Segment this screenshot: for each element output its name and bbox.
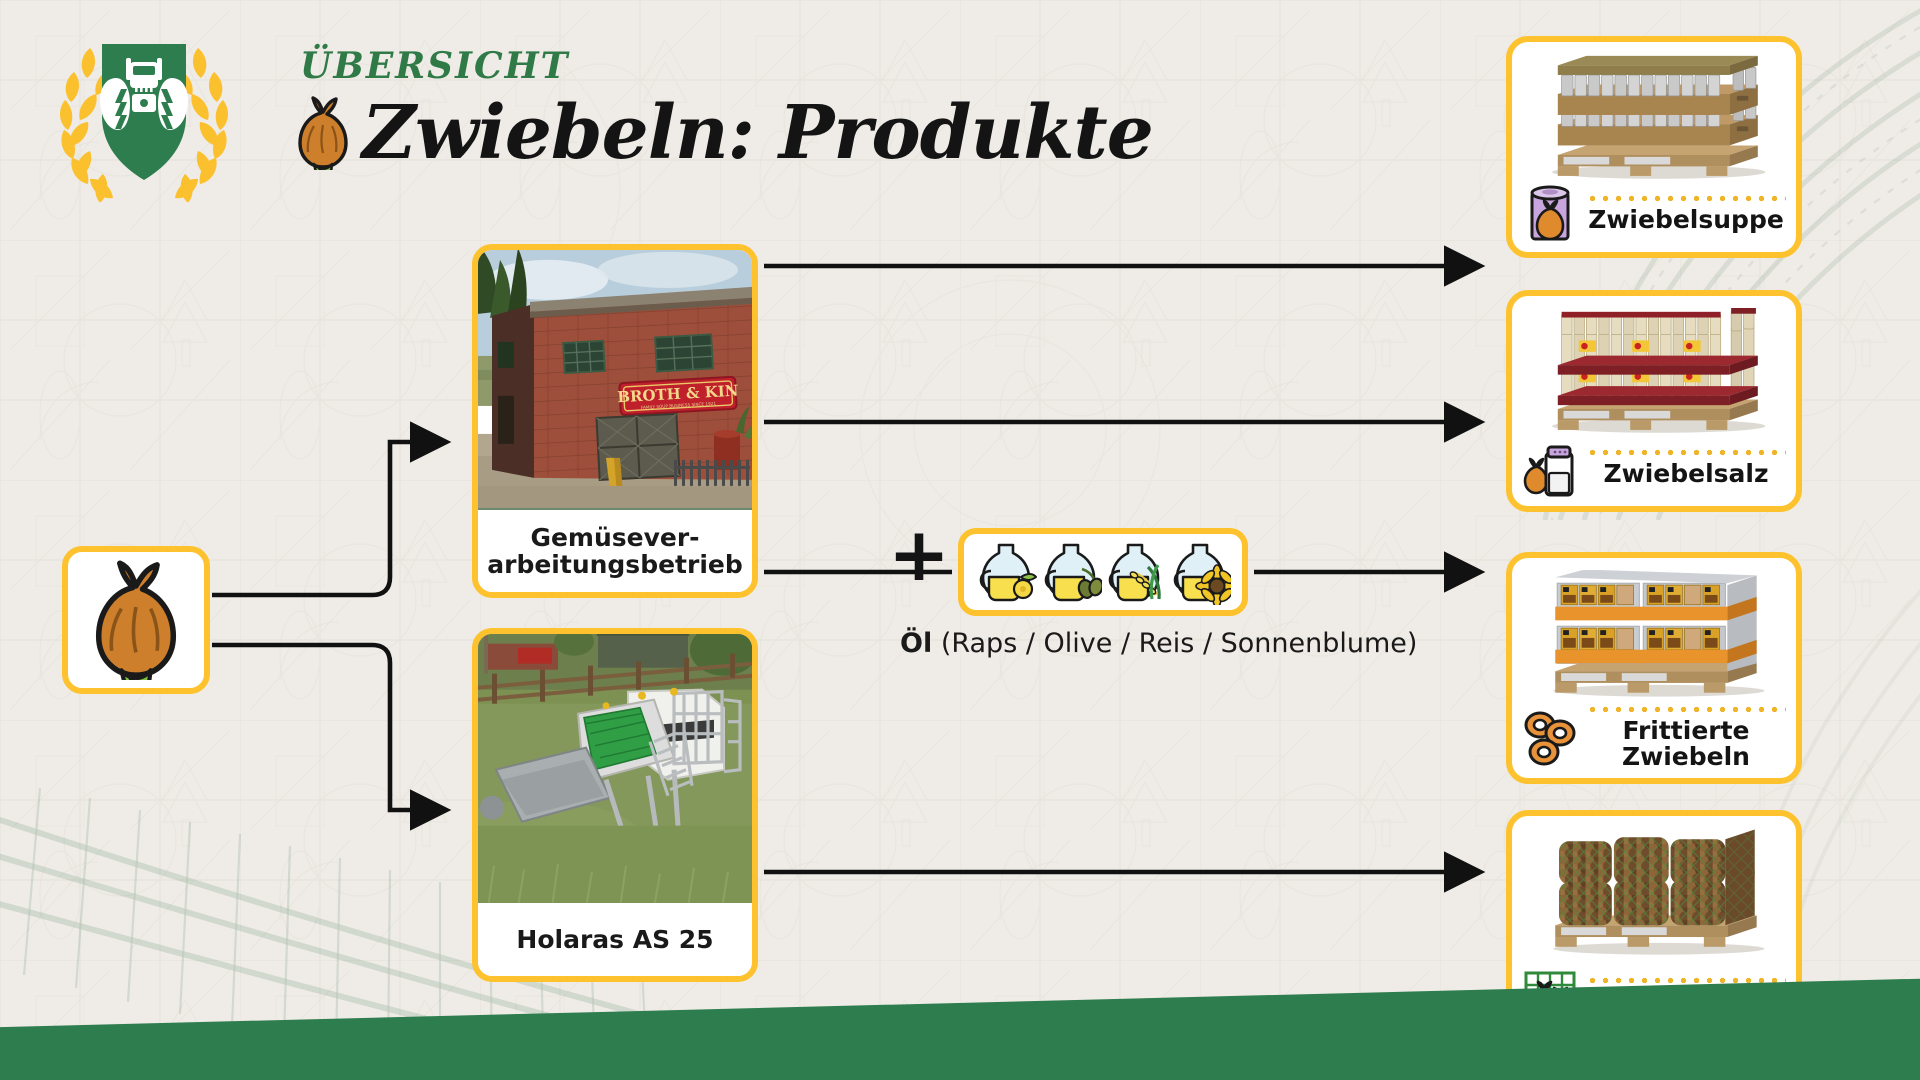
dotted-rule (1586, 449, 1786, 456)
rice-oil-bottle-icon (1104, 539, 1166, 605)
product-name-frittierte-zwiebeln: Frittierte Zwiebeln (1586, 718, 1786, 770)
page-title: Zwiebeln: Produkte (362, 96, 1153, 170)
product-card-zwiebelsalz[interactable]: Zwiebelsalz (1506, 290, 1802, 512)
processor-card-vegetable-processing-plant[interactable]: BROTH & KIN FAMILY SOUP BUSINESS SINCE 1… (472, 244, 758, 598)
wire-onion-to-factory (212, 442, 444, 595)
holaras-card-caption: Holaras AS 25 (516, 926, 713, 953)
onion-salt-shaker-icon (1522, 437, 1578, 499)
product-name-line1: Frittierte (1622, 716, 1749, 745)
ingredient-card-oil[interactable] (958, 528, 1248, 616)
pallet-of-salt-jars (1512, 296, 1796, 436)
wire-onion-to-holaras (212, 645, 444, 810)
tractor-shield-laurel-icon (38, 22, 250, 202)
pallet-of-tin-cans (1512, 42, 1796, 182)
onion-soup-can-icon (1522, 183, 1578, 245)
sunflower-oil-bottle-icon (1169, 539, 1231, 605)
rapeseed-oil-bottle-icon (975, 539, 1037, 605)
holaras-conveyor-machine-photo (478, 634, 752, 903)
pallet-of-boxed-bags (1512, 558, 1796, 704)
tire-track-texture-bottom-left (0, 770, 900, 1080)
plus-sign: + (888, 518, 950, 592)
fried-onion-rings-icon (1522, 707, 1578, 769)
dotted-rule (1586, 706, 1786, 713)
oil-label-bold: Öl (900, 628, 932, 659)
pallet-of-onion-sacks (1512, 816, 1796, 962)
oil-label: Öl (Raps / Olive / Reis / Sonnenblume) (900, 628, 1417, 659)
product-card-zwiebelbeutel[interactable]: Zwiebelbeutel (1506, 810, 1802, 1042)
dotted-rule (1586, 195, 1786, 202)
source-card-onion[interactable] (62, 546, 210, 694)
processor-card-holaras-as-25[interactable]: Holaras AS 25 (472, 628, 758, 982)
page-header: ÜBERSICHT Zwiebeln: Produkte (292, 48, 1153, 170)
onion-icon (292, 96, 354, 170)
onion-net-bag-icon (1522, 965, 1578, 1027)
product-name-zwiebelsalz: Zwiebelsalz (1586, 461, 1786, 487)
dotted-rule (1586, 977, 1786, 984)
factory-card-caption: Gemüsever- arbeitungsbetrieb (487, 524, 743, 578)
product-name-line2: Zwiebeln (1622, 742, 1750, 771)
product-card-zwiebelsuppe[interactable]: Zwiebelsuppe (1506, 36, 1802, 258)
infographic-canvas: ÜBERSICHT Zwiebeln: Produkte (0, 0, 1920, 1080)
factory-caption-line2: arbeitungsbetrieb (487, 550, 743, 579)
olive-oil-bottle-icon (1040, 539, 1102, 605)
factory-caption-line1: Gemüsever- (530, 523, 699, 552)
onion-icon (82, 560, 190, 680)
oil-label-rest: (Raps / Olive / Reis / Sonnenblume) (941, 628, 1418, 659)
brick-factory-building-photo: BROTH & KIN FAMILY SOUP BUSINESS SINCE 1… (478, 250, 752, 510)
product-card-frittierte-zwiebeln[interactable]: Frittierte Zwiebeln (1506, 552, 1802, 784)
kicker-label: ÜBERSICHT (300, 48, 1153, 84)
product-name-zwiebelbeutel: Zwiebelbeutel (1586, 989, 1786, 1015)
product-name-zwiebelsuppe: Zwiebelsuppe (1586, 207, 1786, 233)
